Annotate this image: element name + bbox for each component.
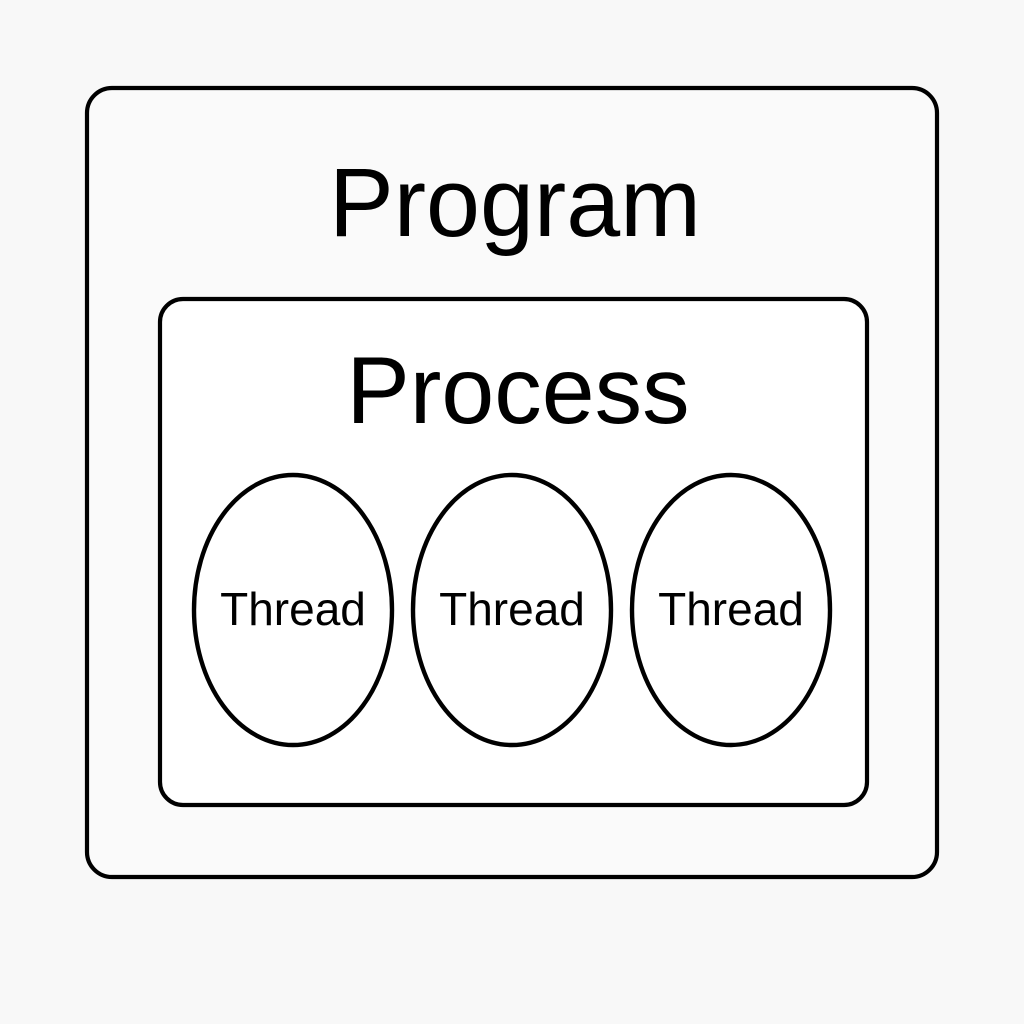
process-label: Process xyxy=(346,338,689,444)
program-label: Program xyxy=(329,148,701,257)
thread-label-1: Thread xyxy=(220,583,366,635)
program-process-thread-diagram: Program Process Thread Thread Thread xyxy=(0,0,1024,1024)
thread-label-2: Thread xyxy=(439,583,585,635)
diagram-canvas: Program Process Thread Thread Thread xyxy=(0,0,1024,1024)
thread-label-3: Thread xyxy=(658,583,804,635)
